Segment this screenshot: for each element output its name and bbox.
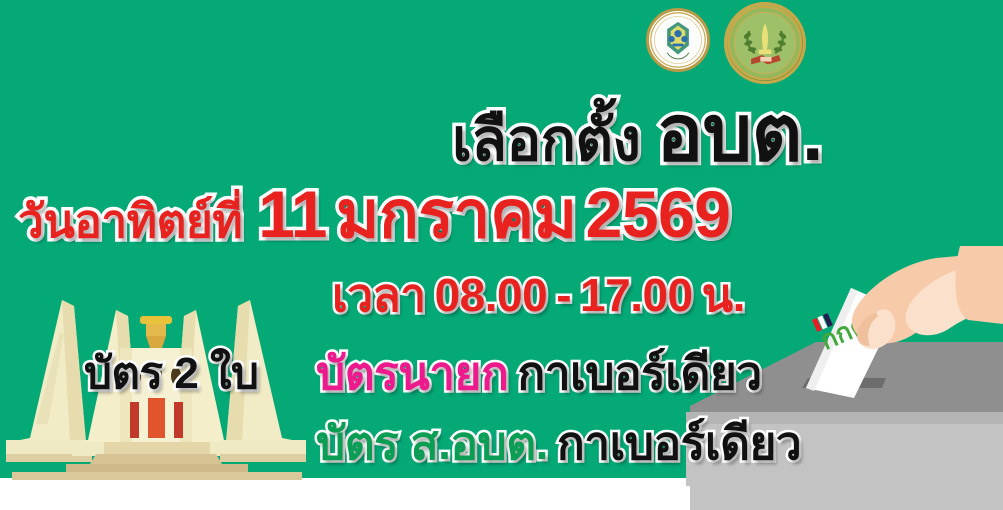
mayor-ballot-row: บัตรนายกกาเบอร์เดียว [316, 350, 762, 396]
time-start: 08.00 [435, 269, 548, 321]
two-ballots-badge: บัตร 2 ใบ [84, 352, 258, 396]
hand [852, 246, 1003, 349]
time-line: เวลา08.00-17.00น. [332, 272, 745, 318]
mayor-ballot-title: บัตรนายก [316, 347, 508, 399]
local-administration-emblem [724, 2, 806, 84]
date-month: มกราคม [336, 177, 577, 251]
ect-emblem-svg [649, 11, 707, 69]
date-line: วันอาทิตย์ที่11มกราคม2569 [18, 181, 730, 247]
member-ballot-row: บัตร ส.อบต.กาเบอร์เดียว [316, 420, 801, 466]
local-admin-emblem-svg [727, 5, 803, 81]
date-year: 2569 [586, 177, 731, 251]
date-day: 11 [258, 177, 327, 251]
time-end: 17.00 [580, 269, 693, 321]
time-dash: - [556, 269, 571, 321]
election-commission-thailand-emblem [646, 8, 710, 72]
time-label: เวลา [332, 269, 426, 321]
member-ballot-instruction: กาเบอร์เดียว [557, 417, 801, 469]
emblem-group [640, 2, 820, 84]
election-poster: กกต. [0, 0, 1003, 510]
member-ballot-title: บัตร ส.อบต. [316, 417, 548, 469]
mayor-ballot-instruction: กาเบอร์เดียว [517, 347, 761, 399]
date-label: วันอาทิตย์ที่ [18, 195, 242, 247]
headline: เลือกตั้งอบต. [452, 94, 823, 172]
time-unit: น. [702, 269, 745, 321]
headline-prefix: เลือกตั้ง [452, 108, 640, 173]
headline-main: อบต. [656, 89, 823, 177]
